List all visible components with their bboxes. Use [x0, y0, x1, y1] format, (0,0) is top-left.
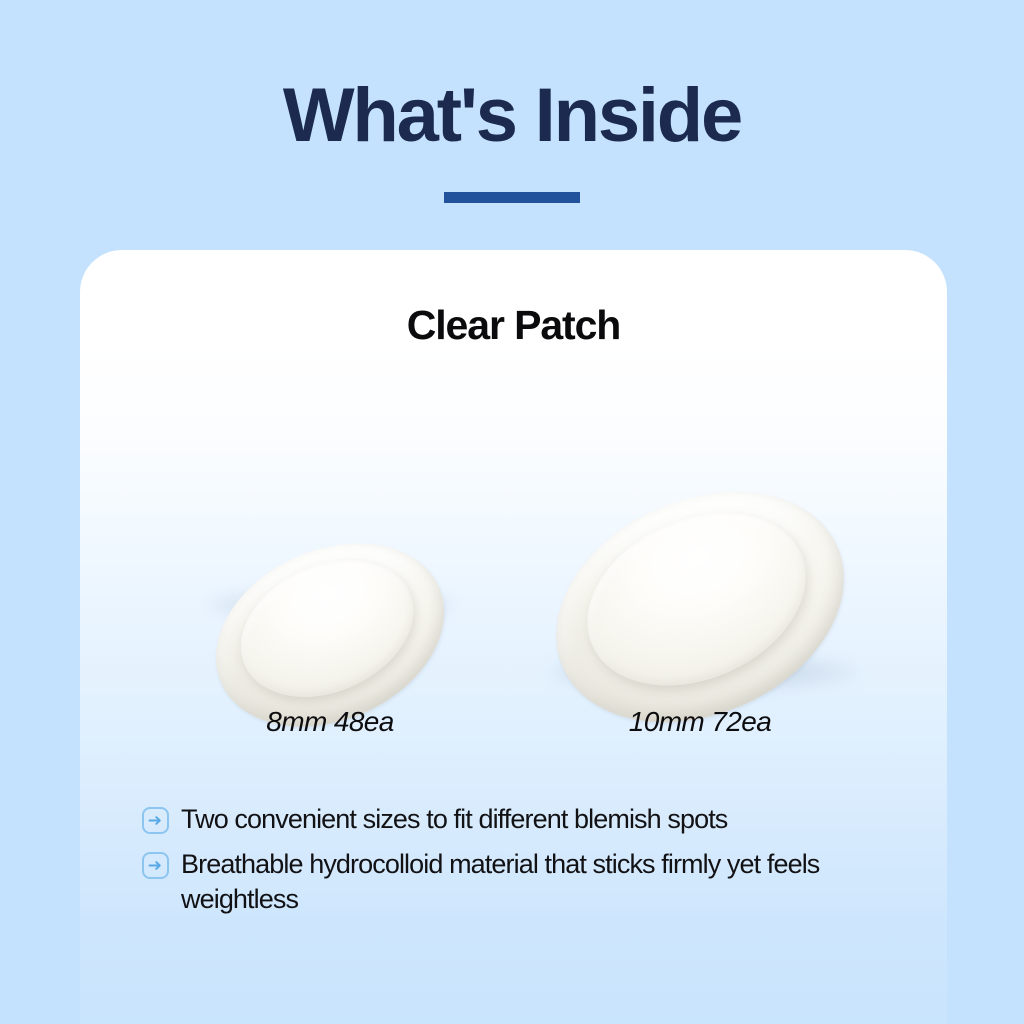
feature-list-item: Two convenient sizes to fit different bl…	[142, 802, 932, 837]
feature-list: Two convenient sizes to fit different bl…	[142, 802, 932, 927]
feature-list-item-label: Breathable hydrocolloid material that st…	[181, 847, 901, 917]
patch-image-large	[550, 500, 850, 714]
feature-list-item: Breathable hydrocolloid material that st…	[142, 847, 932, 917]
patch-caption-small: 8mm 48ea	[140, 706, 520, 738]
page-header: What's Inside	[0, 0, 1024, 248]
patch-caption-large: 10mm 72ea	[500, 706, 900, 738]
arrow-right-boxed-icon	[142, 852, 169, 879]
page-title: What's Inside	[0, 78, 1024, 154]
title-underline-rule	[444, 192, 580, 203]
patch-image-small	[211, 550, 449, 720]
product-info-page: What's Inside Clear Patch 8mm 48ea 10mm …	[0, 0, 1024, 1024]
arrow-right-boxed-icon	[142, 807, 169, 834]
feature-list-item-label: Two convenient sizes to fit different bl…	[181, 802, 727, 837]
product-card: Clear Patch 8mm 48ea 10mm 72ea	[80, 250, 947, 1024]
card-title: Clear Patch	[80, 305, 947, 346]
